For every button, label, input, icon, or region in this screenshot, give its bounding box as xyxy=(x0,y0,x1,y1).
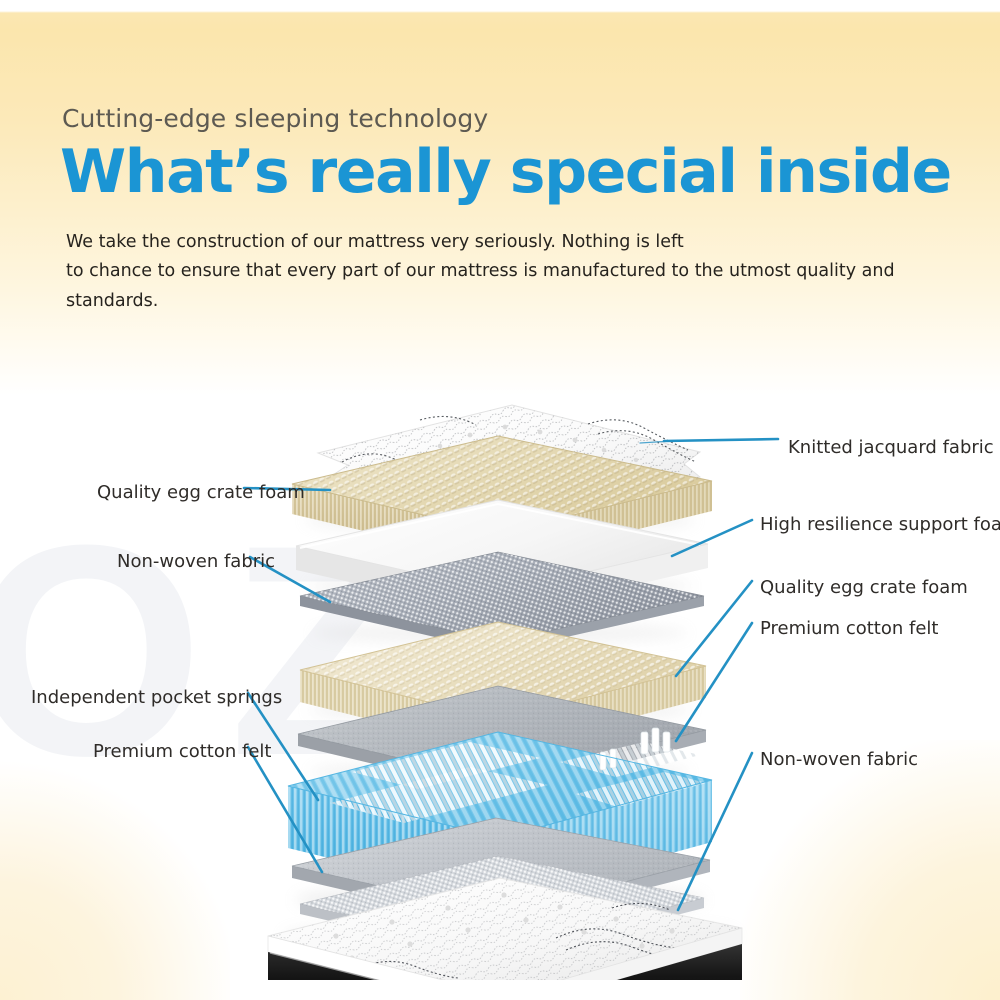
intro-paragraph-line-2: to chance to ensure that every part of o… xyxy=(66,257,906,316)
callout-label-non-woven-fabric-right: Non-woven fabric xyxy=(760,751,918,769)
callout-label-non-woven-fabric-left: Non-woven fabric xyxy=(117,553,275,571)
callout-label-independent-pocket-springs: Independent pocket springs xyxy=(31,689,282,707)
intro-paragraph-line-1: We take the construction of our mattress… xyxy=(66,228,906,257)
infographic-canvas: OZ Cutting-edge sleeping technology What… xyxy=(0,0,1000,1000)
eyebrow-text: Cutting-edge sleeping technology xyxy=(62,104,488,133)
page-title: What’s really special inside xyxy=(60,141,951,203)
callout-label-premium-cotton-felt-right: Premium cotton felt xyxy=(760,620,938,638)
callout-label-quality-egg-crate-foam-left: Quality egg crate foam xyxy=(97,484,305,502)
callout-label-knitted-jacquard-fabric: Knitted jacquard fabric xyxy=(788,439,994,457)
callout-label-premium-cotton-felt-left: Premium cotton felt xyxy=(93,743,271,761)
mattress-exploded-diagram xyxy=(0,380,1000,980)
callout-label-quality-egg-crate-foam-right: Quality egg crate foam xyxy=(760,579,968,597)
intro-paragraph: We take the construction of our mattress… xyxy=(66,228,906,316)
callout-label-high-resilience-support-foam: High resilience support foam xyxy=(760,516,1000,534)
